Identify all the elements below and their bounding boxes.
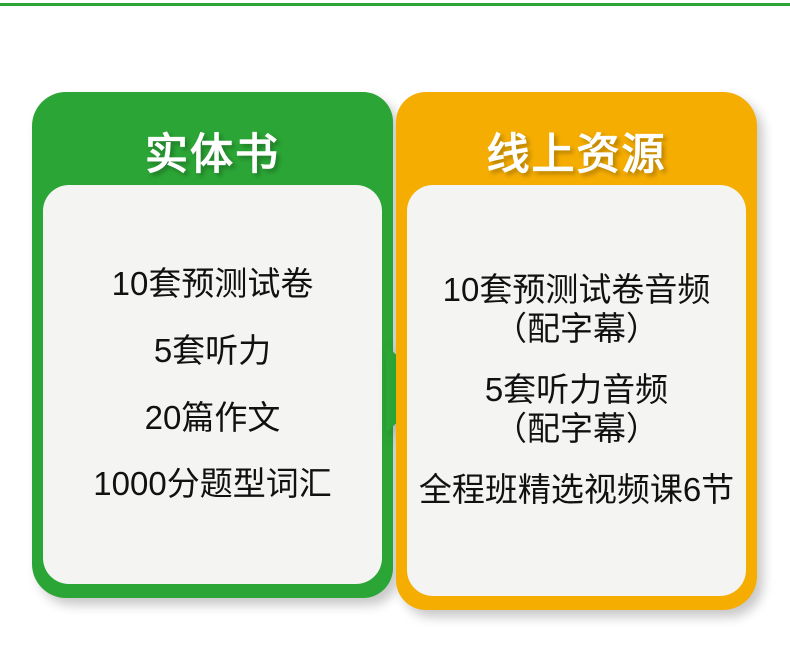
list-item-main: 全程班精选视频课6节	[419, 471, 734, 508]
card-physical-book-panel: 10套预测试卷 5套听力 20篇作文 1000分题型词汇	[43, 185, 382, 584]
list-item-main: 20篇作文	[145, 399, 281, 436]
card-online-resources-title: 线上资源	[396, 120, 757, 182]
list-item: 5套听力音频 （配字幕）	[485, 371, 668, 449]
list-item-sub: （配字幕）	[485, 410, 668, 449]
list-item: 全程班精选视频课6节	[419, 471, 734, 510]
list-item: 10套预测试卷音频 （配字幕）	[443, 271, 711, 349]
list-item: 5套听力	[154, 332, 271, 371]
comparison-graphic: 实体书 10套预测试卷 5套听力 20篇作文 1000分题型词汇 线上资源 1	[0, 0, 790, 669]
list-item: 20篇作文	[145, 399, 281, 438]
list-item-main: 10套预测试卷	[112, 265, 314, 302]
top-divider-rule	[0, 3, 790, 6]
card-physical-book-title: 实体书	[32, 120, 393, 182]
list-item-main: 1000分题型词汇	[93, 465, 331, 502]
card-physical-book: 实体书 10套预测试卷 5套听力 20篇作文 1000分题型词汇	[32, 92, 393, 598]
list-item-main: 5套听力	[154, 332, 271, 369]
list-item-main: 5套听力音频	[485, 371, 668, 408]
card-online-resources: 线上资源 10套预测试卷音频 （配字幕） 5套听力音频 （配字幕） 全程班精选视…	[396, 92, 757, 610]
list-item-sub: （配字幕）	[443, 310, 711, 349]
list-item: 10套预测试卷	[112, 265, 314, 304]
list-item-main: 10套预测试卷音频	[443, 271, 711, 308]
list-item: 1000分题型词汇	[93, 465, 331, 504]
card-online-resources-panel: 10套预测试卷音频 （配字幕） 5套听力音频 （配字幕） 全程班精选视频课6节	[407, 185, 746, 596]
